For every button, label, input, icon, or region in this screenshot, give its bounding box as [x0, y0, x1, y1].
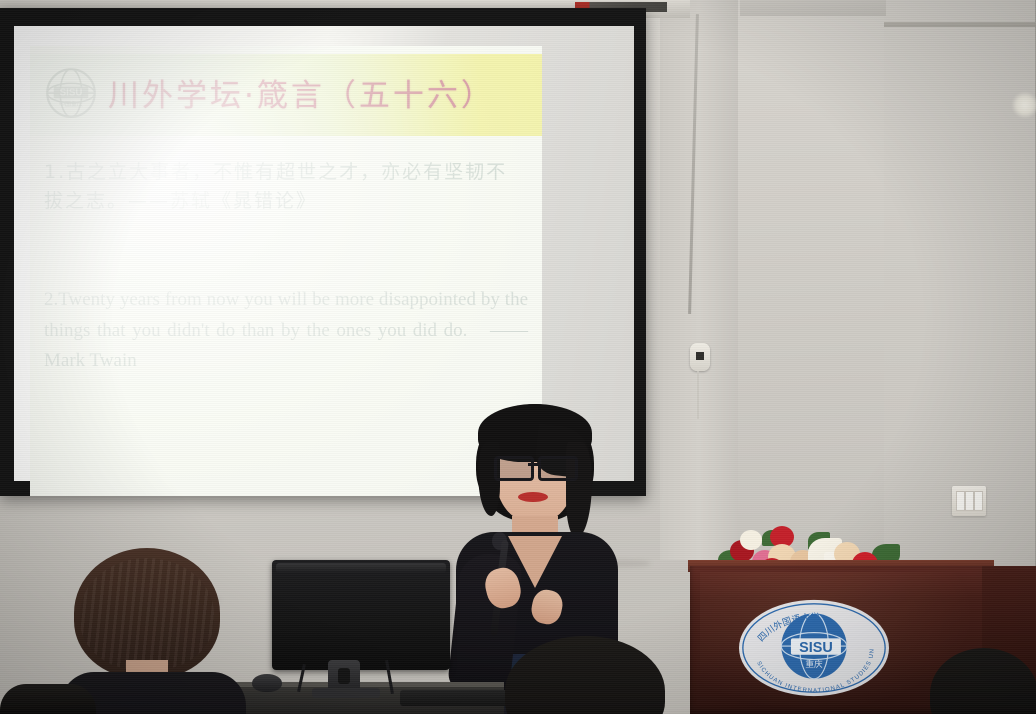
audience-member-right	[930, 648, 1036, 714]
monitor-sheen	[276, 563, 446, 573]
slide-quote-english: 2.Twenty years from now you will be more…	[44, 285, 528, 377]
svg-text:重庆: 重庆	[805, 658, 823, 670]
monitor-cable-hole	[338, 668, 350, 684]
monitor-base	[312, 688, 380, 698]
slide-title: 川外学坛·箴言（五十六）	[108, 70, 495, 115]
svg-text:SISU: SISU	[60, 88, 83, 99]
light-switch-toggle[interactable]	[974, 491, 983, 511]
sisu-emblem-icon: SISU 重庆 四川外国语大学 SICHUAN INTERNATIONAL ST…	[736, 598, 892, 698]
keyboard[interactable]	[400, 690, 510, 706]
speaker-glasses	[492, 456, 576, 476]
glasses-bridge	[528, 463, 540, 466]
speaker-lips	[518, 492, 548, 502]
audience-member-left	[60, 548, 250, 714]
wall-molding-upper	[740, 0, 886, 16]
flower-white	[740, 530, 762, 550]
audience-hair	[930, 648, 1036, 714]
screen-control-box[interactable]	[690, 343, 710, 371]
light-switch-plate[interactable]	[952, 486, 986, 516]
ceiling-light-reflection	[1012, 92, 1036, 118]
lecture-hall-scene: SISU 中国重庆 川外学坛·箴言（五十六） 1.古之立大事者，不惟有超世之才，…	[0, 0, 1036, 714]
wall-molding	[884, 22, 1036, 27]
audience-hair-texture	[80, 558, 214, 670]
slide-quote-chinese: 1.古之立大事者，不惟有超世之才，亦必有坚韧不拔之志。——苏轼《晁错论》	[44, 158, 528, 217]
glasses-lens-right	[538, 456, 578, 481]
glasses-lens-left	[494, 456, 534, 481]
svg-text:中国重庆: 中国重庆	[59, 100, 83, 108]
sisu-globe-icon: SISU 中国重庆	[44, 66, 98, 120]
wall-pillar	[660, 0, 738, 560]
slide-body: 1.古之立大事者，不惟有超世之才，亦必有坚韧不拔之志。——苏轼《晁错论》 2.T…	[44, 158, 528, 377]
computer-mouse[interactable]	[252, 674, 282, 692]
audience-member-far-left	[0, 684, 96, 714]
audience-member-center	[505, 636, 665, 714]
light-switch-toggle[interactable]	[956, 491, 965, 511]
computer-monitor	[272, 560, 450, 670]
light-switch-toggle[interactable]	[965, 491, 974, 511]
svg-text:SISU: SISU	[799, 640, 833, 656]
screen-control-cord[interactable]	[697, 371, 699, 419]
screen-control-button[interactable]	[696, 352, 704, 360]
audience-hair	[505, 636, 665, 714]
